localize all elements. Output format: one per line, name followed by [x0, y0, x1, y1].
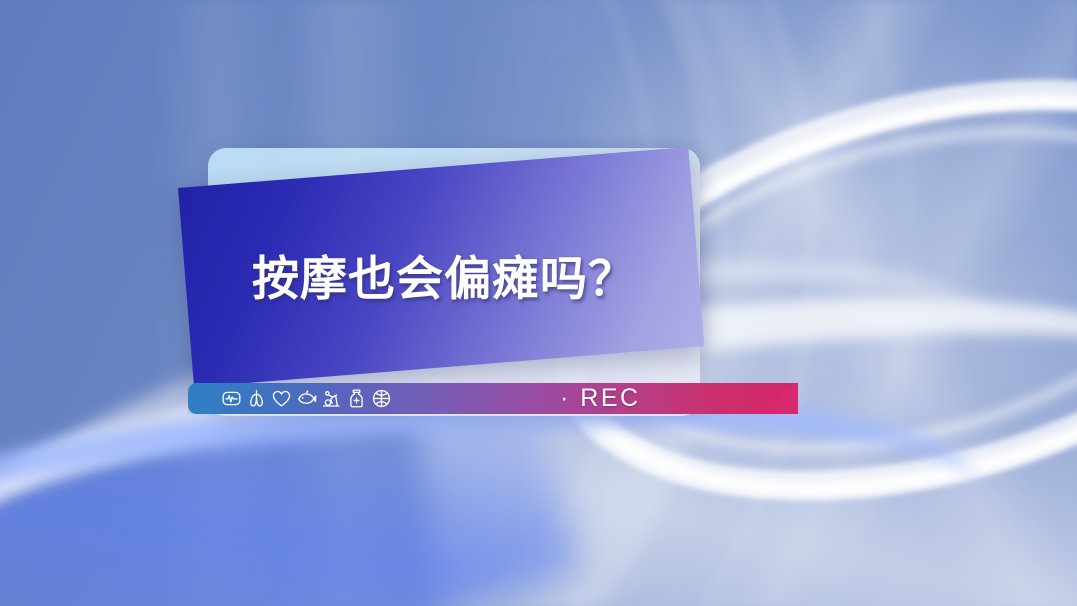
lungs-icon	[246, 388, 267, 409]
ecg-monitor-icon	[221, 388, 242, 409]
basketball-icon	[371, 388, 392, 409]
medicine-bottle-icon	[346, 388, 367, 409]
page-title: 按摩也会偏瘫吗？	[252, 240, 682, 309]
rec-status-label: · REC	[560, 384, 641, 413]
heart-icon	[271, 388, 292, 409]
status-bar: · REC	[188, 383, 796, 414]
health-icon-strip	[221, 388, 392, 409]
video-thumbnail-stage: 按摩也会偏瘫吗？	[0, 0, 1077, 606]
exercise-bike-icon	[321, 388, 342, 409]
fish-icon	[296, 388, 317, 409]
